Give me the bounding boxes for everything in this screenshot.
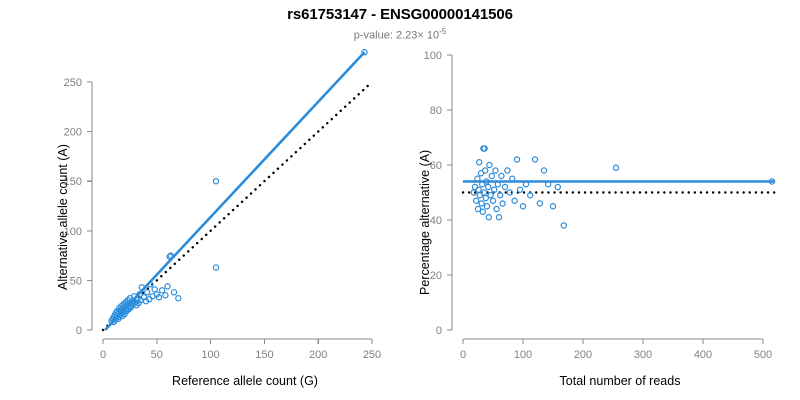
data-point [514,157,519,162]
data-point [213,179,218,184]
data-point [613,165,618,170]
x-tick-label: 50 [151,349,163,361]
data-point [537,201,542,206]
data-point [171,290,176,295]
data-point [213,265,218,270]
x-tick-label: 0 [460,349,466,361]
x-tick-label: 300 [634,349,652,361]
data-point [486,184,491,189]
data-point [145,290,150,295]
data-point [499,173,504,178]
data-point [479,201,484,206]
figure-container: rs61753147 - ENSG00000141506 p-value: 2.… [0,0,800,400]
data-point [561,223,566,228]
data-point [487,162,492,167]
right-plot-svg: 0100200300400500020406080100 [400,40,800,400]
data-point [480,209,485,214]
scatter-points [471,146,774,228]
data-point [555,184,560,189]
left-x-axis-title: Reference allele count (G) [100,374,390,388]
y-tick-label: 0 [76,325,82,337]
y-tick-label: 0 [436,325,442,337]
data-point [502,184,507,189]
data-point [517,187,522,192]
y-tick-label: 50 [70,275,82,287]
right-plot-panel: 0100200300400500020406080100 [400,40,800,400]
x-tick-label: 250 [363,349,381,361]
data-point [476,187,481,192]
y-tick-label: 80 [430,105,442,117]
x-tick-label: 200 [574,349,592,361]
x-tick-label: 100 [201,349,219,361]
data-point [488,193,493,198]
x-tick-label: 150 [255,349,273,361]
data-point [512,198,517,203]
reference-line [103,82,372,330]
x-tick-label: 0 [100,349,106,361]
data-point [541,168,546,173]
data-point [496,215,501,220]
x-tick-label: 200 [309,349,327,361]
x-tick-label: 100 [514,349,532,361]
page-title: rs61753147 - ENSG00000141506 [0,6,800,23]
data-point [160,288,165,293]
data-point [550,204,555,209]
data-point [500,201,505,206]
data-point [490,198,495,203]
x-tick-label: 500 [754,349,772,361]
data-point [176,296,181,301]
y-tick-label: 200 [64,127,82,139]
data-point [489,173,494,178]
data-point [532,157,537,162]
data-point [474,198,479,203]
right-y-axis-title: Percentage alternative (A) [418,150,432,295]
data-point [486,215,491,220]
axes-group: 0100200300400500020406080100 [424,50,773,361]
data-point [484,204,489,209]
y-tick-label: 100 [424,50,442,62]
data-point [165,284,170,289]
y-tick-label: 250 [64,77,82,89]
x-tick-label: 400 [694,349,712,361]
data-point [505,168,510,173]
data-point [163,293,168,298]
data-point [477,160,482,165]
data-point [520,204,525,209]
data-point [483,168,488,173]
pvalue-exponent: -5 [439,27,446,36]
data-point [493,168,498,173]
left-y-axis-title: Alternative allele count (A) [56,144,70,290]
right-x-axis-title: Total number of reads [470,374,770,388]
data-point [494,206,499,211]
